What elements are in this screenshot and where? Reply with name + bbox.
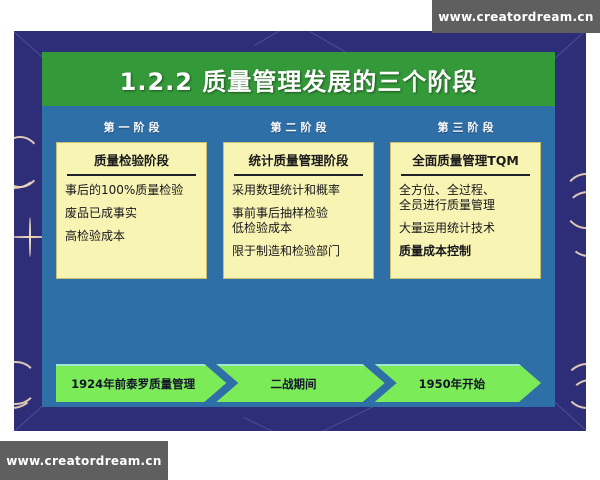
watermark-top-right: www.creatordream.cn [432, 0, 600, 33]
slide-body: 1.2.2 质量管理发展的三个阶段 第一阶段 质量检验阶段 事后的100%质量检… [42, 52, 555, 407]
phase-column-1: 第一阶段 质量检验阶段 事后的100%质量检验 废品已成事实 高检验成本 [56, 106, 207, 279]
timeline-step-1: 1924年前泰罗质量管理 [56, 364, 226, 402]
title-bar: 1.2.2 质量管理发展的三个阶段 [42, 52, 555, 106]
phase-heading-1: 质量检验阶段 [67, 150, 196, 176]
phase-box-1: 质量检验阶段 事后的100%质量检验 废品已成事实 高检验成本 [56, 142, 207, 279]
phase-item: 全方位、全过程、 [399, 183, 532, 198]
phase-heading-2: 统计质量管理阶段 [234, 150, 363, 176]
phase-column-2: 第二阶段 统计质量管理阶段 采用数理统计和概率 事前事后抽样检验 低检验成本 限… [223, 106, 374, 279]
decor-curl-icon [570, 227, 586, 257]
phase-item: 大量运用统计技术 [399, 221, 532, 236]
phase-item: 事后的100%质量检验 [65, 183, 198, 198]
phase-item: 采用数理统计和概率 [232, 183, 365, 198]
phase-item: 全员进行质量管理 [399, 198, 532, 213]
phase-column-3: 第三阶段 全面质量管理TQM 全方位、全过程、 全员进行质量管理 大量运用统计技… [390, 106, 541, 279]
phase-item: 事前事后抽样检验 [232, 206, 365, 221]
phase-heading-3: 全面质量管理TQM [401, 150, 530, 176]
phase-box-2: 统计质量管理阶段 采用数理统计和概率 事前事后抽样检验 低检验成本 限于制造和检… [223, 142, 374, 279]
phase-item: 质量成本控制 [399, 244, 532, 259]
phase-label-3: 第三阶段 [390, 106, 541, 142]
phase-item: 低检验成本 [232, 221, 365, 236]
timeline-arrows: 1924年前泰罗质量管理 二战期间 1950年开始 [56, 364, 541, 402]
frame-decor-line [244, 417, 307, 431]
phase-label-1: 第一阶段 [56, 106, 207, 142]
slide-frame: 1.2.2 质量管理发展的三个阶段 第一阶段 质量检验阶段 事后的100%质量检… [14, 31, 586, 431]
phase-columns: 第一阶段 质量检验阶段 事后的100%质量检验 废品已成事实 高检验成本 第二阶… [42, 106, 555, 279]
phase-label-2: 第二阶段 [223, 106, 374, 142]
timeline-step-2: 二战期间 [216, 364, 384, 402]
frame-decor-line [314, 404, 377, 431]
phase-box-3: 全面质量管理TQM 全方位、全过程、 全员进行质量管理 大量运用统计技术 质量成… [390, 142, 541, 279]
phase-item: 高检验成本 [65, 229, 198, 244]
timeline-step-3: 1950年开始 [375, 364, 541, 402]
watermark-bottom-left: www.creatordream.cn [0, 441, 168, 480]
phase-item: 限于制造和检验部门 [232, 244, 365, 259]
page-title: 1.2.2 质量管理发展的三个阶段 [120, 62, 478, 97]
phase-item: 废品已成事实 [65, 206, 198, 221]
frame-decor-line [254, 31, 306, 46]
